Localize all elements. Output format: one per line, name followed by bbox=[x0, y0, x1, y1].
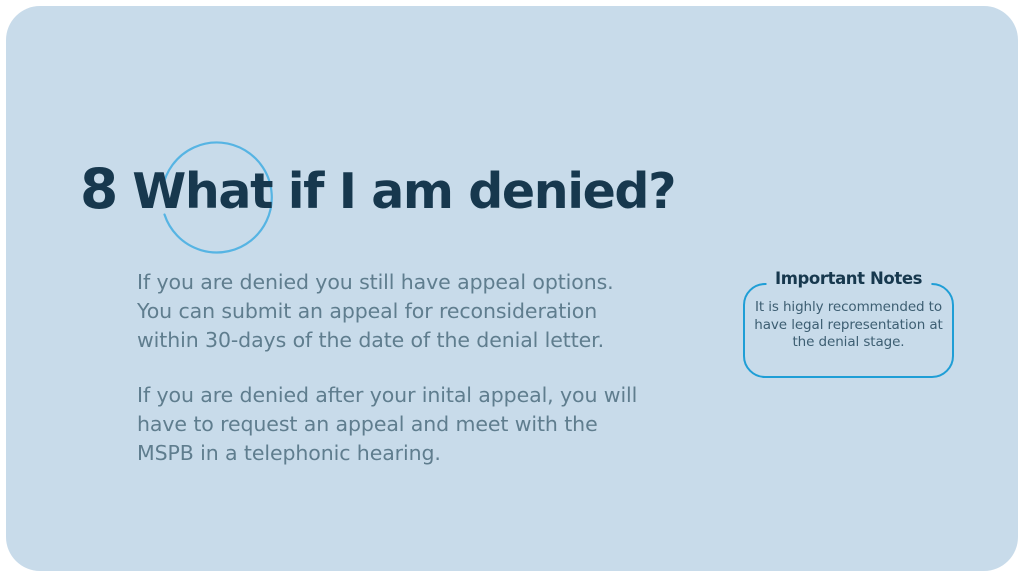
heading-row: 8 What if I am denied? bbox=[80, 162, 675, 217]
body-paragraph-1: If you are denied you still have appeal … bbox=[137, 268, 647, 355]
body-paragraph-2: If you are denied after your inital appe… bbox=[137, 381, 647, 468]
heading-block: 8 What if I am denied? bbox=[54, 142, 674, 260]
slide-canvas: 8 What if I am denied? If you are denied… bbox=[6, 6, 1018, 571]
notes-card-text: It is highly recommended to have legal r… bbox=[754, 299, 943, 352]
body-copy: If you are denied you still have appeal … bbox=[137, 268, 647, 468]
page-title: What if I am denied? bbox=[132, 167, 675, 216]
important-notes-card: Important Notes It is highly recommended… bbox=[743, 283, 954, 378]
step-number: 8 bbox=[80, 162, 117, 217]
notes-card-title: Important Notes bbox=[766, 271, 931, 288]
